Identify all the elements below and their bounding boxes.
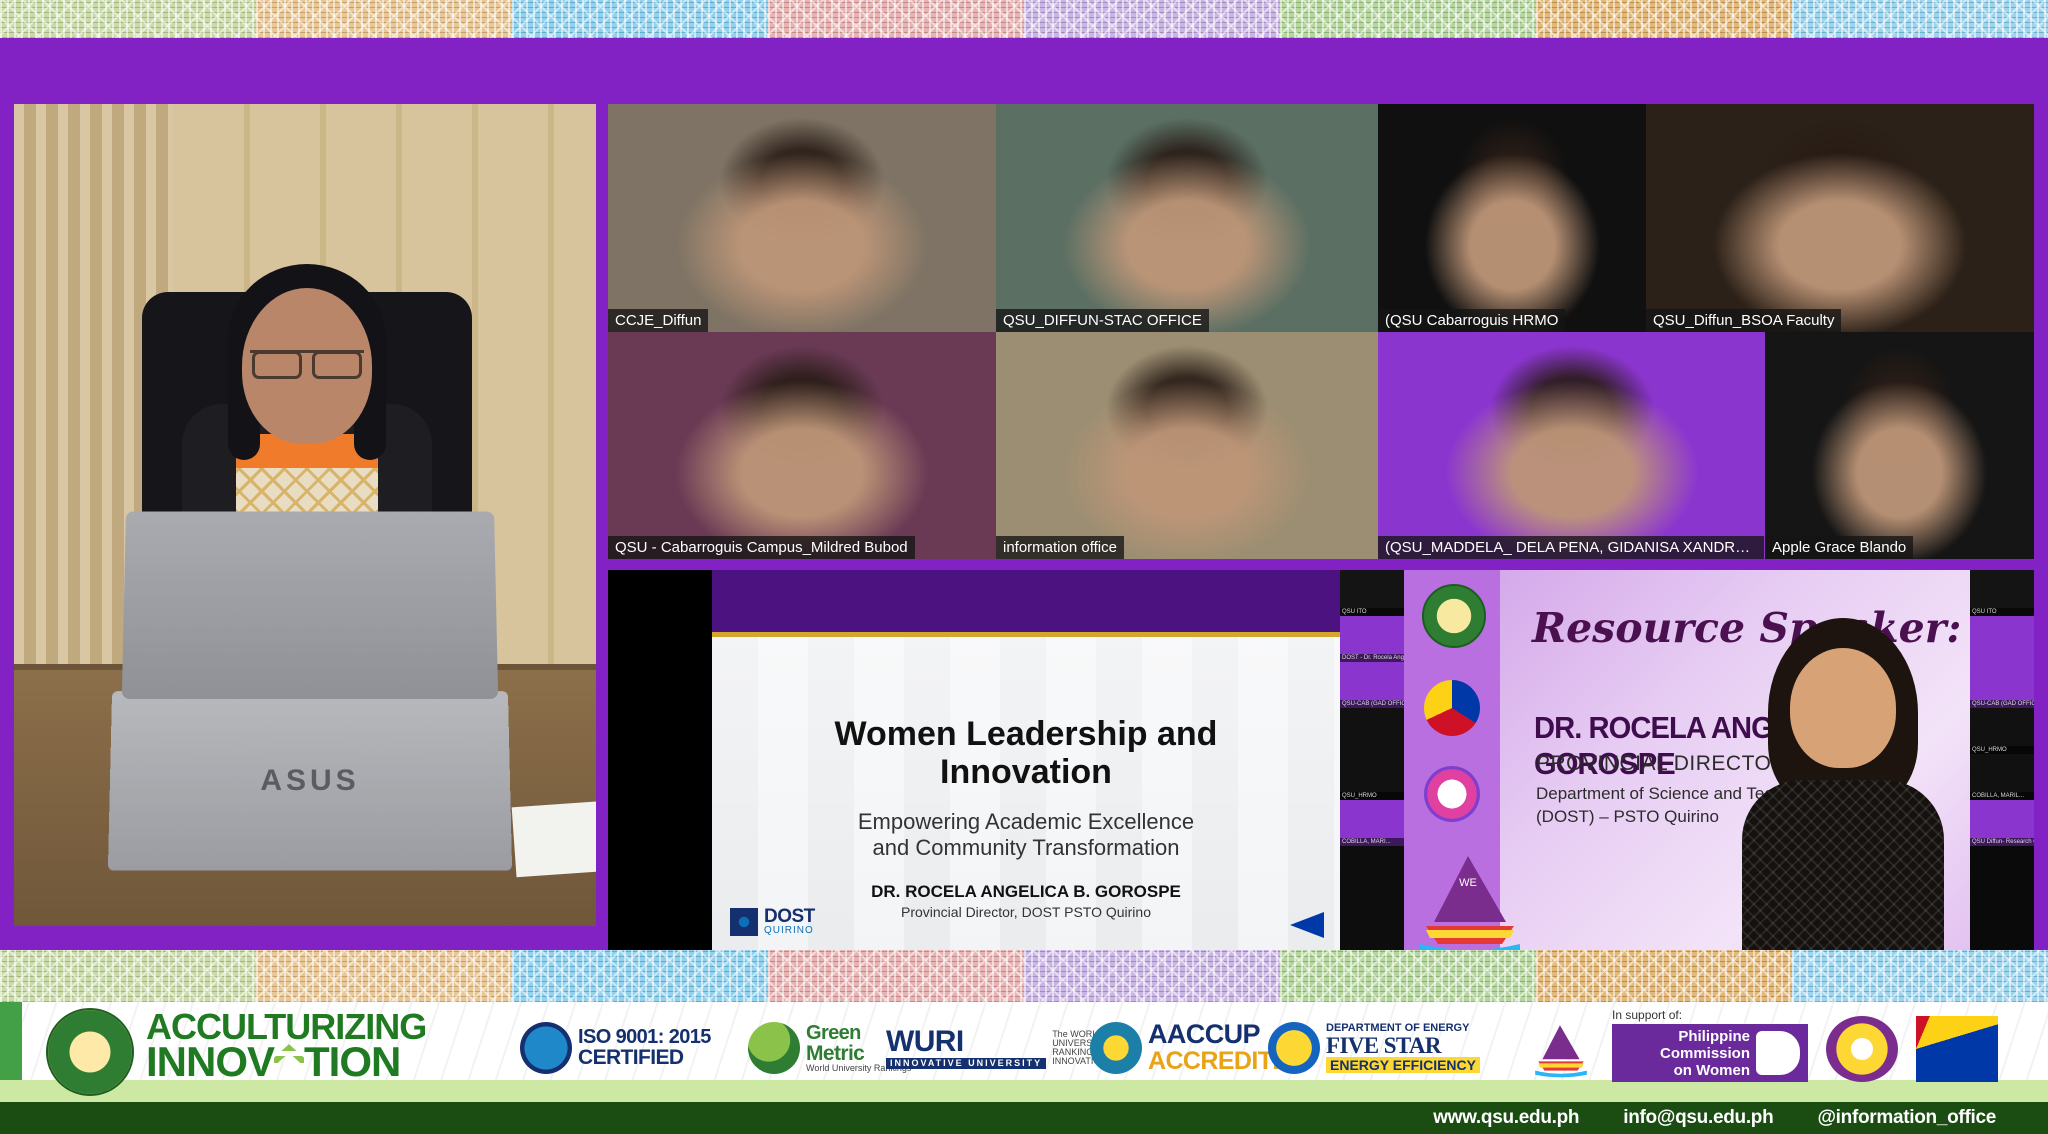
textile-segment	[0, 950, 256, 1002]
website-url[interactable]: www.qsu.edu.ph	[1433, 1107, 1579, 1129]
qsu-seal-icon	[1422, 584, 1486, 648]
textile-segment	[256, 950, 512, 1002]
participant-video	[1646, 104, 2034, 332]
slide-subtitle-line2: and Community Transformation	[712, 835, 1340, 861]
campaign-line2: INNOVTION	[146, 1043, 426, 1082]
dost-subtext: QUIRINO	[764, 926, 815, 936]
chevron-up-icon	[274, 1044, 304, 1080]
nested-participant-thumbnail[interactable]: QSU Diffun- Research Office	[1970, 800, 2034, 846]
nested-participant-thumbnail[interactable]: QSU ITO	[1340, 570, 1404, 616]
pcw-logo: Philippine Commission on Women	[1612, 1024, 1808, 1082]
textile-segment	[1792, 950, 2048, 1002]
portrait-lace-pattern	[1742, 780, 1944, 970]
nested-participant-thumbnail[interactable]: QSU-CAB (GAD OFFICE)	[1970, 662, 2034, 708]
nested-thumbnail-nametag: QSU_HRMO	[1970, 746, 2034, 754]
nested-thumbnail-nametag: QSU ITO	[1340, 608, 1404, 616]
top-textile-border	[0, 0, 2048, 38]
nested-thumbnail-nametag: COBILLA, MARIL...	[1970, 792, 2034, 800]
slide-title-line2: Innovation	[712, 753, 1340, 791]
doe-seal-icon	[1268, 1022, 1320, 1074]
nested-thumbnail-nametag: DOST - Dr. Rocela Ange...	[1340, 654, 1404, 662]
badge-energy-efficiency: DEPARTMENT OF ENERGYFIVE STARENERGY EFFI…	[1268, 1012, 1480, 1084]
paper-sheet	[512, 801, 596, 878]
participant-tile[interactable]: (QSU Cabarroguis HRMO	[1378, 104, 1647, 332]
participant-tile[interactable]: QSU_DIFFUN-STAC OFFICE	[996, 104, 1378, 332]
pcw-line3: on Women	[1620, 1062, 1750, 1079]
pcw-mark-icon	[1756, 1031, 1800, 1075]
badge-doe-line-c: ENERGY EFFICIENCY	[1326, 1057, 1480, 1073]
bagong-pilipinas-icon	[1424, 680, 1480, 736]
campaign-wordmark: ACCULTURIZING INNOVTION	[146, 1010, 426, 1082]
we-campaign-boat-icon: WE	[1410, 852, 1530, 956]
textile-segment	[768, 950, 1024, 1002]
textile-segment	[512, 950, 768, 1002]
footer-bar: ACCULTURIZING INNOVTION ISO 9001: 2015CE…	[0, 1002, 2048, 1102]
badge-wuri-line-b: INNOVATIVE UNIVERSITY	[886, 1058, 1046, 1069]
textile-segment	[1536, 950, 1792, 1002]
we-campaign-boat-icon	[1530, 1020, 1592, 1080]
participant-video	[1378, 332, 1766, 559]
presentation-slide[interactable]: Women Leadership and Innovation Empoweri…	[712, 570, 1340, 970]
badge-iso-line-a: ISO 9001: 2015	[578, 1027, 711, 1047]
nested-participant-thumbnail[interactable]: QSU_HRMO	[1970, 708, 2034, 754]
participant-video	[996, 332, 1378, 559]
contact-bar: www.qsu.edu.ph info@qsu.edu.ph @informat…	[0, 1102, 2048, 1134]
slide-subtitle-line1: Empowering Academic Excellence	[712, 809, 1340, 835]
participant-tile[interactable]: CCJE_Diffun	[608, 104, 996, 332]
pcw-line2: Commission	[1620, 1045, 1750, 1062]
nested-thumbnail-nametag: COBILLA, MARI...	[1340, 838, 1404, 846]
participant-nametag: QSU_DIFFUN-STAC OFFICE	[996, 309, 1209, 332]
nested-participant-thumbnail[interactable]: QSU_HRMO	[1340, 754, 1404, 800]
badge-iso-9001: ISO 9001: 2015CERTIFIED	[520, 1012, 711, 1084]
national-womens-month-icon	[1826, 1016, 1898, 1082]
campaign-line2-b: TION	[304, 1038, 400, 1085]
participant-tile[interactable]: information office	[996, 332, 1378, 559]
textile-segment	[512, 0, 768, 38]
nested-thumbnail-nametag: QSU ITO	[1970, 608, 2034, 616]
nested-participant-thumbnail[interactable]: QSU-CAB (GAD OFFICE)	[1340, 662, 1404, 708]
nested-thumbnail-strip-left: QSU ITODOST - Dr. Rocela Ange...QSU-CAB …	[1340, 570, 1404, 970]
nested-participant-thumbnail[interactable]: COBILLA, MARIL...	[1970, 754, 2034, 800]
portrait-face	[1790, 648, 1896, 768]
textile-segment	[768, 0, 1024, 38]
pcw-line1: Philippine	[1620, 1028, 1750, 1045]
slide-subtitle: Empowering Academic Excellence and Commu…	[712, 809, 1340, 861]
participant-nametag: CCJE_Diffun	[608, 309, 708, 332]
screen-share-area: Women Leadership and Innovation Empoweri…	[608, 570, 2034, 970]
nested-thumbnail-strip-right: QSU ITOQSU-CAB (GAD OFFICE)QSU_HRMOCOBIL…	[1970, 570, 2034, 970]
participant-video	[608, 332, 996, 559]
nested-participant-thumbnail[interactable]	[1970, 616, 2034, 662]
participant-video	[1765, 332, 2034, 559]
broadcast-stage: ASUS CCJE_DiffunQSU_DIFFUN-STAC OFFICE(Q…	[0, 0, 2048, 1134]
participant-nametag: QSU - Cabarroguis Campus_Mildred Bubod	[608, 536, 915, 559]
nested-thumbnail-nametag: QSU-CAB (GAD OFFICE)	[1970, 700, 2034, 708]
textile-segment	[1024, 0, 1280, 38]
nested-participant-thumbnail[interactable]	[1340, 708, 1404, 754]
dost-mark-icon	[730, 908, 758, 936]
gender-and-development-icon	[1424, 766, 1480, 822]
footer-green-accent	[0, 1002, 22, 1080]
slide-header-band	[712, 570, 1340, 632]
participant-nametag: Apple Grace Blando	[1765, 536, 1913, 559]
participant-nametag: QSU_Diffun_BSOA Faculty	[1646, 309, 1841, 332]
badge-doe-line-b: FIVE STAR	[1326, 1034, 1480, 1057]
nested-thumbnail-nametag: QSU_HRMO	[1340, 792, 1404, 800]
email-address[interactable]: info@qsu.edu.ph	[1623, 1107, 1773, 1129]
participant-tile[interactable]: QSU - Cabarroguis Campus_Mildred Bubod	[608, 332, 996, 559]
bottom-textile-border	[0, 950, 2048, 1002]
top-purple-band	[0, 38, 2048, 60]
slide-body: Women Leadership and Innovation Empoweri…	[712, 637, 1340, 954]
participant-nametag: (QSU Cabarroguis HRMO	[1378, 309, 1565, 332]
nested-participant-thumbnail[interactable]: COBILLA, MARI...	[1340, 800, 1404, 846]
textile-segment	[1280, 950, 1536, 1002]
slide-speaker-name: DR. ROCELA ANGELICA B. GOROSPE	[712, 882, 1340, 902]
broadcast-area: ASUS CCJE_DiffunQSU_DIFFUN-STAC OFFICE(Q…	[0, 60, 2048, 950]
campaign-line2-a: INNOV	[146, 1038, 274, 1085]
participant-tile[interactable]: (QSU_MADDELA_ DELA PENA, GIDANISA XANDRE…	[1378, 332, 1766, 559]
textile-segment	[1024, 950, 1280, 1002]
badge-wuri-line-a: WURI	[886, 1027, 1046, 1058]
participant-tile[interactable]: Apple Grace Blando	[1765, 332, 2034, 559]
dost-quirino-logo: DOST QUIRINO	[730, 907, 815, 936]
participant-gallery: CCJE_DiffunQSU_DIFFUN-STAC OFFICE(QSU Ca…	[608, 104, 2034, 559]
textile-segment	[0, 0, 256, 38]
iso-seal-icon	[520, 1022, 572, 1074]
laptop-lid	[122, 511, 498, 699]
textile-segment	[1280, 0, 1536, 38]
support-label: In support of:	[1612, 1008, 1682, 1022]
host-presenter-camera[interactable]: ASUS	[14, 104, 596, 926]
textile-segment	[256, 0, 512, 38]
laptop-brand-label: ASUS	[260, 764, 360, 798]
slide-title-line1: Women Leadership and	[712, 715, 1340, 753]
banner-logo-rail: WE	[1404, 570, 1500, 970]
speaker-portrait	[1738, 610, 1948, 970]
slide-title: Women Leadership and Innovation	[712, 715, 1340, 791]
textile-segment	[1536, 0, 1792, 38]
eyeglasses-icon	[250, 350, 364, 373]
participant-tile[interactable]: QSU_Diffun_BSOA Faculty	[1646, 104, 2034, 332]
textile-segment	[1792, 0, 2048, 38]
bagong-pilipinas-icon	[1916, 1016, 1998, 1082]
greenmetric-globe-icon	[748, 1022, 800, 1074]
participant-video	[996, 104, 1378, 332]
resource-speaker-banner[interactable]: WE Resource Speaker: DR. ROCELA ANGELICA…	[1404, 570, 1970, 970]
svg-text:WE: WE	[1459, 877, 1477, 889]
qsu-seal-icon	[46, 1008, 134, 1096]
nested-thumbnail-nametag: QSU-CAB (GAD OFFICE)	[1340, 700, 1404, 708]
participant-video	[608, 104, 996, 332]
laptop: ASUS	[108, 691, 512, 871]
badge-iso-line-b: CERTIFIED	[578, 1047, 711, 1068]
aaccup-seal-icon	[1090, 1022, 1142, 1074]
nested-participant-thumbnail[interactable]: DOST - Dr. Rocela Ange...	[1340, 616, 1404, 662]
nested-participant-thumbnail[interactable]: QSU ITO	[1970, 570, 2034, 616]
social-handle[interactable]: @information_office	[1817, 1107, 1996, 1129]
nested-thumbnail-nametag: QSU Diffun- Research Office	[1970, 838, 2034, 846]
participant-nametag: information office	[996, 536, 1124, 559]
dost-wordmark: DOST	[764, 907, 815, 926]
participant-nametag: (QSU_MADDELA_ DELA PENA, GIDANISA XANDRE…	[1378, 536, 1764, 559]
participant-video	[1378, 104, 1647, 332]
